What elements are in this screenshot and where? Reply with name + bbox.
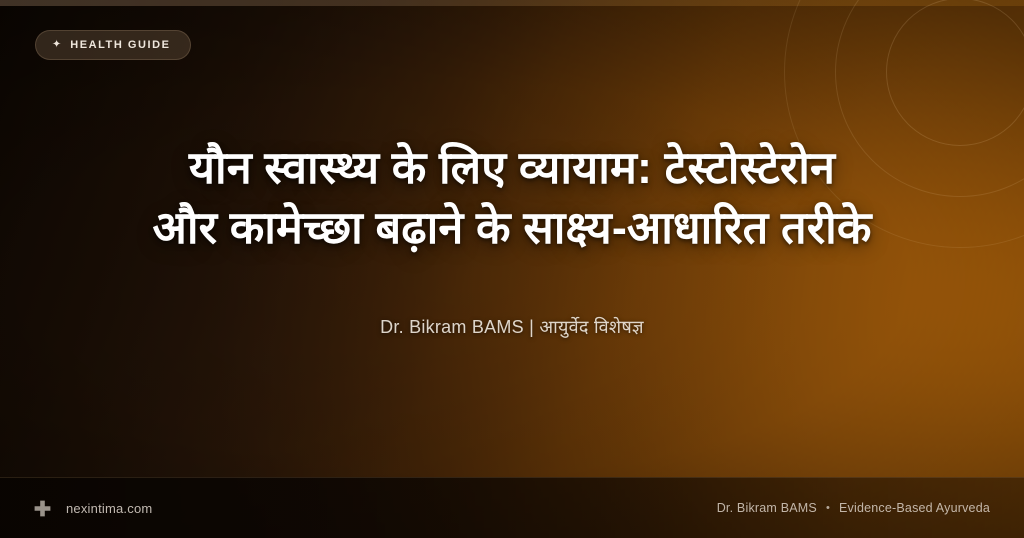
author-byline: Dr. Bikram BAMS | आयुर्वेद विशेषज्ञ [380, 315, 644, 339]
hero-content: यौन स्वास्थ्य के लिए व्यायाम: टेस्टोस्टे… [0, 0, 1024, 477]
credit-tagline: Evidence-Based Ayurveda [839, 501, 990, 515]
brand-block[interactable]: nexintima.com [34, 500, 152, 517]
page-title-line-2: और कामेच्छा बढ़ाने के साक्ष्य-आधारित तरी… [152, 198, 871, 258]
page-title-line-1: यौन स्वास्थ्य के लिए व्यायाम: टेस्टोस्टे… [152, 138, 871, 198]
page-title: यौन स्वास्थ्य के लिए व्यायाम: टेस्टोस्टे… [100, 138, 923, 259]
medical-cross-icon [34, 500, 51, 517]
title-card-canvas: ✦ HEALTH GUIDE यौन स्वास्थ्य के लिए व्या… [0, 0, 1024, 538]
brand-name: nexintima.com [66, 501, 152, 516]
credit-author: Dr. Bikram BAMS [717, 501, 817, 515]
footer-bar: nexintima.com Dr. Bikram BAMS • Evidence… [0, 477, 1024, 538]
bullet-separator-icon: • [826, 503, 830, 514]
footer-credit: Dr. Bikram BAMS • Evidence-Based Ayurved… [717, 501, 990, 515]
